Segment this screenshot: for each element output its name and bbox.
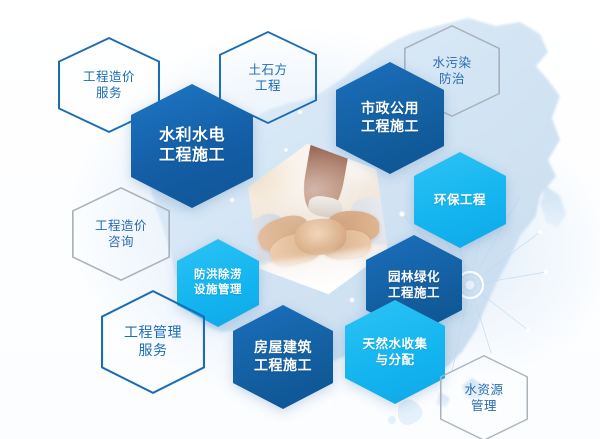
hex-building-construction[interactable]: 房屋建筑 工程施工: [233, 305, 333, 409]
hex-environmental-protection-engineering[interactable]: 环保工程: [414, 152, 506, 248]
hex-water-resources-management[interactable]: 水资源 管理: [440, 355, 528, 439]
hex-label: 天然水收集 与分配: [358, 336, 431, 368]
hex-label: 园林绿化 工程施工: [384, 269, 444, 301]
hex-label: 房屋建筑 工程施工: [250, 339, 316, 375]
hex-label: 工程造价 服务: [79, 69, 139, 101]
hex-engineering-management-service[interactable]: 工程管理 服务: [101, 290, 205, 394]
hex-label: 工程造价 咨询: [91, 218, 151, 250]
hex-label: 水资源 管理: [460, 382, 507, 414]
hex-label: 土石方 工程: [244, 62, 291, 94]
hex-engineering-cost-consulting[interactable]: 工程造价 咨询: [72, 187, 170, 281]
hex-label: 市政公用 工程施工: [357, 100, 423, 136]
hex-label: 水污染 防治: [428, 55, 475, 87]
hex-label: 环保工程: [430, 192, 490, 208]
infographic-canvas: 工程造价 服务 土石方 工程 水污染 防治 水利水电 工程施工 市政公用 工程施…: [0, 0, 600, 439]
hex-label: 水利水电 工程施工: [155, 126, 229, 167]
hex-natural-water-collection-distribution[interactable]: 天然水收集 与分配: [345, 300, 445, 404]
hex-label: 工程管理 服务: [120, 324, 186, 360]
